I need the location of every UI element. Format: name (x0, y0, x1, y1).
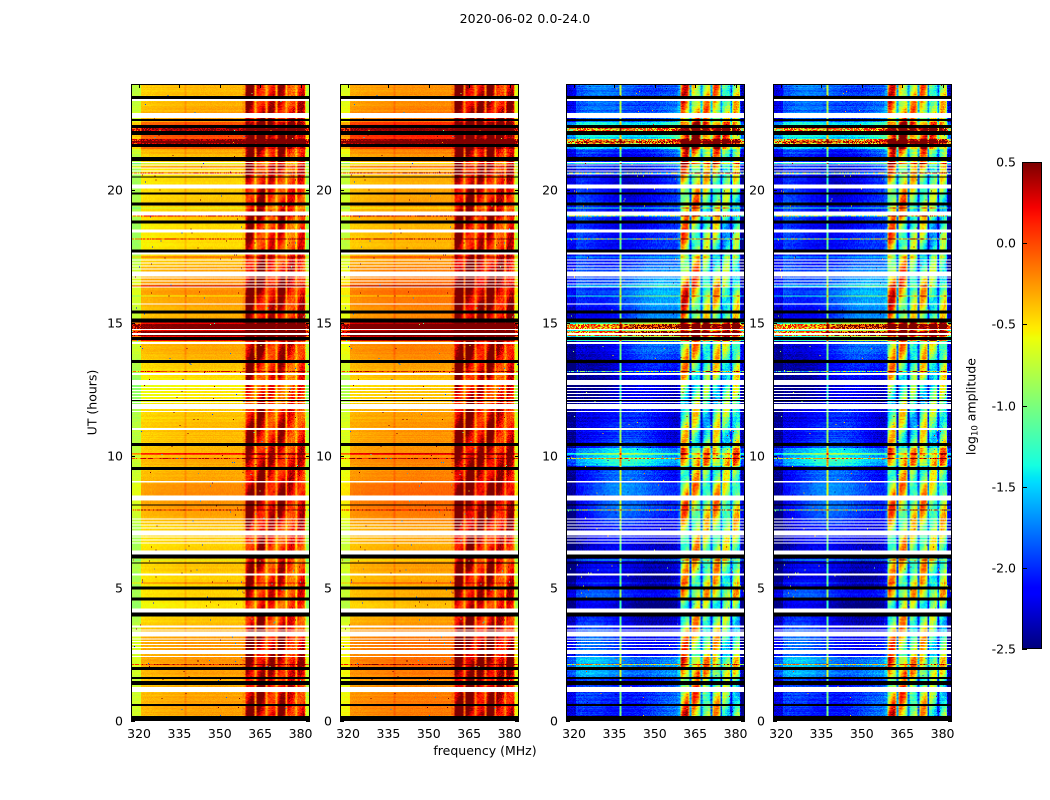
y-tick-xy-4 (566, 190, 570, 191)
y-tick-xy-3 (566, 323, 570, 324)
y-tick-yx-3 (773, 323, 777, 324)
x-tick-xy-0 (574, 717, 575, 721)
y-tick-label-xy-1: 5 (528, 581, 558, 596)
colorbar-label-main: log (963, 436, 978, 455)
y-tick-right-yx-4 (948, 190, 952, 191)
x-tick-label-xx-1: 335 (168, 726, 192, 741)
y-tick-label-yy-0: 0 (302, 714, 332, 729)
y-tick-yy-2 (340, 456, 344, 457)
x-tick-xx-1 (179, 717, 180, 721)
colorbar-label-sub: 10 (971, 425, 981, 436)
x-tick-top-xx-4 (301, 84, 302, 88)
x-tick-yx-0 (781, 717, 782, 721)
y-tick-xy-1 (566, 588, 570, 589)
x-tick-top-yx-1 (821, 84, 822, 88)
figure-suptitle: 2020-06-02 0.0-24.0 (0, 11, 1050, 26)
x-tick-label-xy-3: 365 (683, 726, 707, 741)
y-tick-label-yx-0: 0 (735, 714, 765, 729)
y-tick-yy-4 (340, 190, 344, 191)
y-tick-right-yx-2 (948, 456, 952, 457)
x-tick-label-yx-0: 320 (769, 726, 793, 741)
colorbar-tick-4 (1022, 324, 1027, 325)
x-tick-label-xy-1: 335 (603, 726, 627, 741)
x-tick-top-xx-1 (179, 84, 180, 88)
y-tick-yy-0 (340, 721, 344, 722)
y-tick-right-yy-3 (515, 323, 519, 324)
y-tick-label-xy-2: 10 (528, 448, 558, 463)
colorbar-tick-0 (1022, 649, 1027, 650)
x-tick-label-yx-3: 365 (890, 726, 914, 741)
x-tick-label-yx-1: 335 (810, 726, 834, 741)
y-tick-label-xx-4: 20 (93, 183, 123, 198)
x-tick-label-xx-2: 350 (208, 726, 232, 741)
colorbar-tick-label-0: -2.5 (970, 642, 1016, 657)
y-tick-yx-1 (773, 588, 777, 589)
x-tick-yx-3 (902, 717, 903, 721)
x-tick-top-xx-3 (260, 84, 261, 88)
y-tick-label-yx-4: 20 (735, 183, 765, 198)
x-tick-label-yy-1: 335 (377, 726, 401, 741)
x-tick-xx-0 (139, 717, 140, 721)
colorbar-tick-1 (1022, 568, 1027, 569)
x-tick-xy-2 (655, 717, 656, 721)
x-tick-yx-2 (862, 717, 863, 721)
x-tick-top-xy-4 (736, 84, 737, 88)
y-tick-label-xy-0: 0 (528, 714, 558, 729)
x-tick-label-yx-4: 380 (931, 726, 955, 741)
y-tick-yx-2 (773, 456, 777, 457)
x-tick-label-yx-2: 350 (850, 726, 874, 741)
x-tick-label-xy-0: 320 (562, 726, 586, 741)
x-tick-yx-4 (943, 717, 944, 721)
y-tick-yy-1 (340, 588, 344, 589)
panel-yx[interactable]: YX, V10=EA28 (773, 84, 952, 721)
panel-xx[interactable]: XX, V10=EA28 (131, 84, 310, 721)
y-tick-right-yy-2 (515, 456, 519, 457)
x-tick-yx-1 (821, 717, 822, 721)
x-tick-yy-4 (510, 717, 511, 721)
y-tick-xx-3 (131, 323, 135, 324)
colorbar-tick-label-6: 0.5 (970, 155, 1016, 170)
x-tick-xx-2 (220, 717, 221, 721)
panel-xy-image (567, 85, 744, 720)
x-axis-label: frequency (MHz) (355, 743, 615, 758)
y-tick-yx-4 (773, 190, 777, 191)
x-tick-label-yy-0: 320 (336, 726, 360, 741)
y-tick-label-xy-3: 15 (528, 315, 558, 330)
x-tick-top-yy-1 (388, 84, 389, 88)
y-tick-label-yx-2: 10 (735, 448, 765, 463)
x-tick-yy-2 (429, 717, 430, 721)
y-tick-right-yy-1 (515, 588, 519, 589)
x-tick-label-yy-3: 365 (457, 726, 481, 741)
y-tick-right-yx-3 (948, 323, 952, 324)
figure-root: 2020-06-02 0.0-24.0 XX, V10=EA28 YY, V10… (0, 0, 1050, 800)
y-tick-right-yx-1 (948, 588, 952, 589)
y-tick-label-yy-4: 20 (302, 183, 332, 198)
x-tick-xy-3 (695, 717, 696, 721)
y-tick-yx-0 (773, 721, 777, 722)
x-tick-top-yy-4 (510, 84, 511, 88)
x-tick-label-xx-0: 320 (127, 726, 151, 741)
y-tick-yy-3 (340, 323, 344, 324)
y-tick-right-yy-0 (515, 721, 519, 722)
colorbar-tick-2 (1022, 487, 1027, 488)
y-tick-right-yx-0 (948, 721, 952, 722)
x-tick-top-xy-2 (655, 84, 656, 88)
x-tick-top-xx-0 (139, 84, 140, 88)
x-tick-top-yx-2 (862, 84, 863, 88)
y-tick-xy-2 (566, 456, 570, 457)
y-tick-xx-2 (131, 456, 135, 457)
panel-yy-image (341, 85, 518, 720)
y-tick-label-yy-1: 5 (302, 581, 332, 596)
x-tick-yy-0 (348, 717, 349, 721)
y-tick-label-yy-2: 10 (302, 448, 332, 463)
colorbar-tick-label-1: -2.0 (970, 560, 1016, 575)
x-tick-xy-1 (614, 717, 615, 721)
x-tick-yy-3 (469, 717, 470, 721)
x-tick-label-xy-2: 350 (643, 726, 667, 741)
y-tick-label-yx-1: 5 (735, 581, 765, 596)
y-tick-xy-0 (566, 721, 570, 722)
x-tick-top-yx-0 (781, 84, 782, 88)
panel-yy[interactable]: YY, V10=EA28 (340, 84, 519, 721)
y-axis-label: UT (hours) (85, 303, 100, 503)
colorbar-tick-6 (1022, 162, 1027, 163)
panel-xx-image (132, 85, 309, 720)
y-tick-right-yy-4 (515, 190, 519, 191)
colorbar-tick-label-5: 0.0 (970, 236, 1016, 251)
y-tick-label-yx-3: 15 (735, 315, 765, 330)
colorbar-label-tail: amplitude (963, 358, 978, 425)
x-tick-top-yx-3 (902, 84, 903, 88)
x-tick-label-yy-2: 350 (417, 726, 441, 741)
x-tick-top-yy-3 (469, 84, 470, 88)
x-tick-top-xy-3 (695, 84, 696, 88)
x-tick-xx-3 (260, 717, 261, 721)
y-tick-xx-1 (131, 588, 135, 589)
x-tick-top-xx-2 (220, 84, 221, 88)
panel-xy[interactable]: XY, V10=EA28 (566, 84, 745, 721)
y-tick-label-yy-3: 15 (302, 315, 332, 330)
panel-yx-image (774, 85, 951, 720)
y-tick-xx-4 (131, 190, 135, 191)
colorbar-tick-3 (1022, 406, 1027, 407)
colorbar-label: log10 amplitude (963, 307, 980, 507)
colorbar-tick-5 (1022, 243, 1027, 244)
x-tick-top-yy-2 (429, 84, 430, 88)
x-tick-top-yx-4 (943, 84, 944, 88)
y-tick-xx-0 (131, 721, 135, 722)
y-tick-label-xx-0: 0 (93, 714, 123, 729)
x-tick-label-yy-4: 380 (498, 726, 522, 741)
y-tick-label-xy-4: 20 (528, 183, 558, 198)
y-tick-label-xx-1: 5 (93, 581, 123, 596)
x-tick-label-xx-3: 365 (248, 726, 272, 741)
x-tick-top-xy-0 (574, 84, 575, 88)
x-tick-top-yy-0 (348, 84, 349, 88)
x-tick-yy-1 (388, 717, 389, 721)
x-tick-top-xy-1 (614, 84, 615, 88)
